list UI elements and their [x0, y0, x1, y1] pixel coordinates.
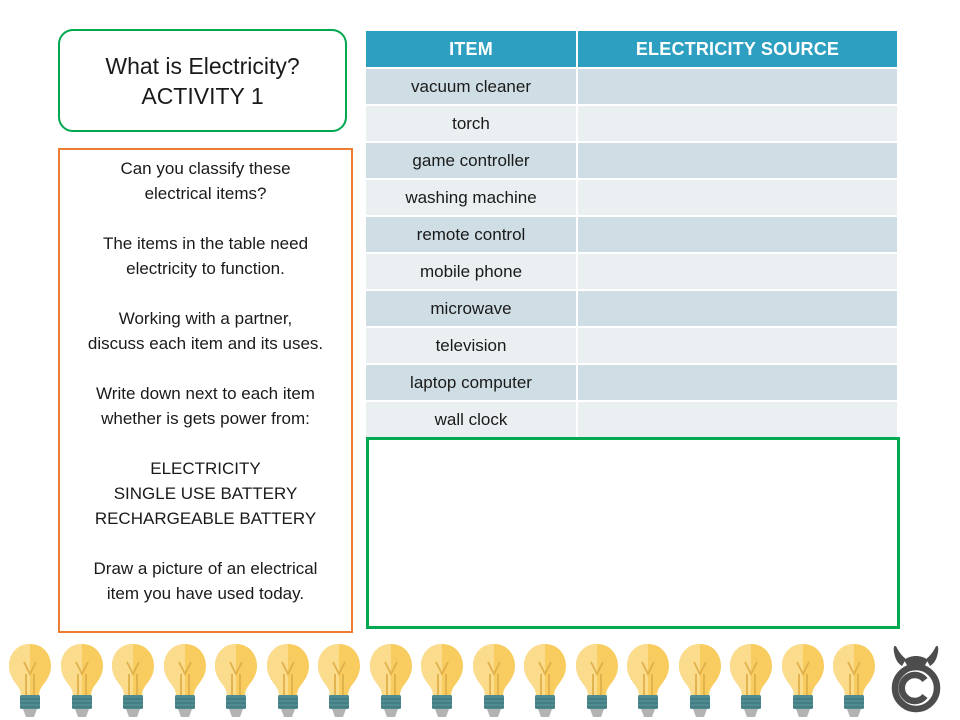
table-row: torch	[366, 106, 897, 143]
light-bulb-decoration-strip	[0, 636, 960, 720]
drawing-answer-box[interactable]	[366, 437, 900, 629]
cell-item: washing machine	[366, 180, 578, 217]
spacer	[70, 431, 341, 456]
instruction-line: electrical items?	[70, 181, 341, 206]
light-bulb-icon	[725, 640, 777, 720]
table-row: television	[366, 328, 897, 365]
instructions-panel: Can you classify these electrical items?…	[58, 148, 353, 633]
light-bulb-icon	[468, 640, 520, 720]
instruction-paragraph-2: The items in the table need electricity …	[70, 231, 341, 281]
cell-item: mobile phone	[366, 254, 578, 291]
instruction-paragraph-5: Draw a picture of an electrical item you…	[70, 556, 341, 606]
light-bulb-icon	[365, 640, 417, 720]
light-bulb-icon	[313, 640, 365, 720]
instruction-paragraph-1: Can you classify these electrical items?	[70, 156, 341, 206]
light-bulb-icon	[4, 640, 56, 720]
table-row: washing machine	[366, 180, 897, 217]
spacer	[70, 206, 341, 231]
activity-subtitle: ACTIVITY 1	[141, 81, 263, 111]
table-row: microwave	[366, 291, 897, 328]
cell-electricity-source[interactable]	[578, 402, 897, 439]
instruction-paragraph-4: Write down next to each item whether is …	[70, 381, 341, 431]
cell-item: microwave	[366, 291, 578, 328]
power-source-option-rechargeable-battery: RECHARGEABLE BATTERY	[70, 506, 341, 531]
cell-item: wall clock	[366, 402, 578, 439]
light-bulb-icon	[571, 640, 623, 720]
light-bulb-icon	[828, 640, 880, 720]
spacer	[70, 356, 341, 381]
instruction-line: Working with a partner,	[70, 306, 341, 331]
cell-item: game controller	[366, 143, 578, 180]
cell-item: laptop computer	[366, 365, 578, 402]
instruction-line: whether is gets power from:	[70, 406, 341, 431]
activity-title-box: What is Electricity? ACTIVITY 1	[58, 29, 347, 132]
page-title: What is Electricity?	[105, 51, 299, 81]
instruction-paragraph-3: Working with a partner, discuss each ite…	[70, 306, 341, 356]
spacer	[70, 531, 341, 556]
instruction-line: The items in the table need	[70, 231, 341, 256]
instruction-line: item you have used today.	[70, 581, 341, 606]
light-bulb-icon	[107, 640, 159, 720]
cell-item: vacuum cleaner	[366, 69, 578, 106]
table-row: vacuum cleaner	[366, 69, 897, 106]
light-bulb-icon	[159, 640, 211, 720]
table-row: laptop computer	[366, 365, 897, 402]
cell-item: torch	[366, 106, 578, 143]
power-source-options: ELECTRICITY SINGLE USE BATTERY RECHARGEA…	[70, 456, 341, 531]
cell-electricity-source[interactable]	[578, 365, 897, 402]
light-bulb-icon	[622, 640, 674, 720]
table-row: game controller	[366, 143, 897, 180]
light-bulb-icon	[210, 640, 262, 720]
electricity-items-table: ITEM ELECTRICITY SOURCE vacuum cleanerto…	[366, 31, 897, 439]
light-bulb-icon	[777, 640, 829, 720]
instruction-line: Can you classify these	[70, 156, 341, 181]
table-row: wall clock	[366, 402, 897, 439]
light-bulb-icon	[56, 640, 108, 720]
spacer	[70, 281, 341, 306]
copyright-moose-logo	[880, 642, 952, 716]
cell-electricity-source[interactable]	[578, 106, 897, 143]
cell-electricity-source[interactable]	[578, 328, 897, 365]
table-row: mobile phone	[366, 254, 897, 291]
light-bulb-icon	[519, 640, 571, 720]
cell-item: remote control	[366, 217, 578, 254]
power-source-option-electricity: ELECTRICITY	[70, 456, 341, 481]
instruction-line: discuss each item and its uses.	[70, 331, 341, 356]
column-header-electricity-source: ELECTRICITY SOURCE	[578, 31, 897, 69]
table-header-row: ITEM ELECTRICITY SOURCE	[366, 31, 897, 69]
cell-electricity-source[interactable]	[578, 180, 897, 217]
cell-electricity-source[interactable]	[578, 69, 897, 106]
light-bulb-icon	[674, 640, 726, 720]
instruction-line: Write down next to each item	[70, 381, 341, 406]
light-bulb-icon	[262, 640, 314, 720]
instruction-line: Draw a picture of an electrical	[70, 556, 341, 581]
power-source-option-single-use-battery: SINGLE USE BATTERY	[70, 481, 341, 506]
light-bulb-icon	[416, 640, 468, 720]
instruction-line: electricity to function.	[70, 256, 341, 281]
cell-electricity-source[interactable]	[578, 291, 897, 328]
column-header-item: ITEM	[366, 31, 578, 69]
cell-item: television	[366, 328, 578, 365]
table-row: remote control	[366, 217, 897, 254]
cell-electricity-source[interactable]	[578, 143, 897, 180]
cell-electricity-source[interactable]	[578, 217, 897, 254]
cell-electricity-source[interactable]	[578, 254, 897, 291]
